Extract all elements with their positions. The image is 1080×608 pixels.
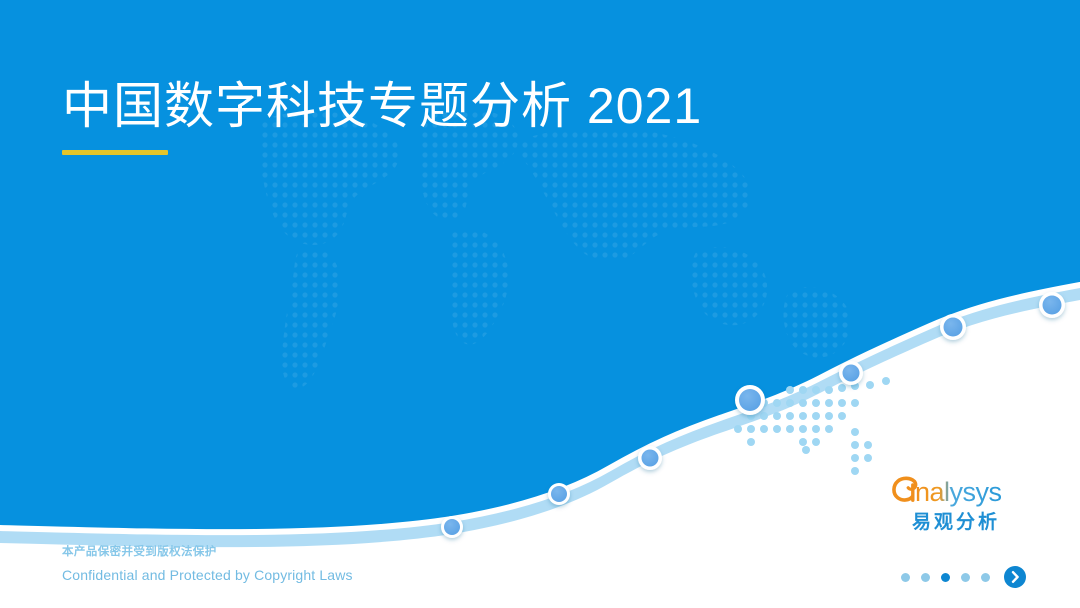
chevron-right-icon[interactable] <box>1004 566 1026 588</box>
title-block: 中国数字科技专题分析 2021 <box>62 78 702 155</box>
pagination-dot-2[interactable] <box>921 573 930 582</box>
analysys-wordmark: nalysys <box>890 474 1022 508</box>
pagination-dot-3[interactable] <box>941 573 950 582</box>
slide-pagination[interactable] <box>901 566 1026 588</box>
pagination-dot-5[interactable] <box>981 573 990 582</box>
legal-notice-en: Confidential and Protected by Copyright … <box>62 565 353 586</box>
analysys-name-cn: 易观分析 <box>890 507 1022 534</box>
title-accent-bar <box>62 150 168 155</box>
page-title: 中国数字科技专题分析 2021 <box>62 78 702 134</box>
legal-notice: 本产品保密并受到版权法保护 Confidential and Protected… <box>62 544 353 586</box>
cover-slide: 中国数字科技专题分析 2021 本产品保密并受到版权法保护 Confidenti… <box>0 0 1080 608</box>
analysys-logo: nalysys 易观分析 <box>890 474 1022 534</box>
legal-notice-cn: 本产品保密并受到版权法保护 <box>62 544 353 562</box>
pagination-dot-1[interactable] <box>901 573 910 582</box>
pagination-dot-4[interactable] <box>961 573 970 582</box>
svg-text:nalysys: nalysys <box>915 477 1002 507</box>
